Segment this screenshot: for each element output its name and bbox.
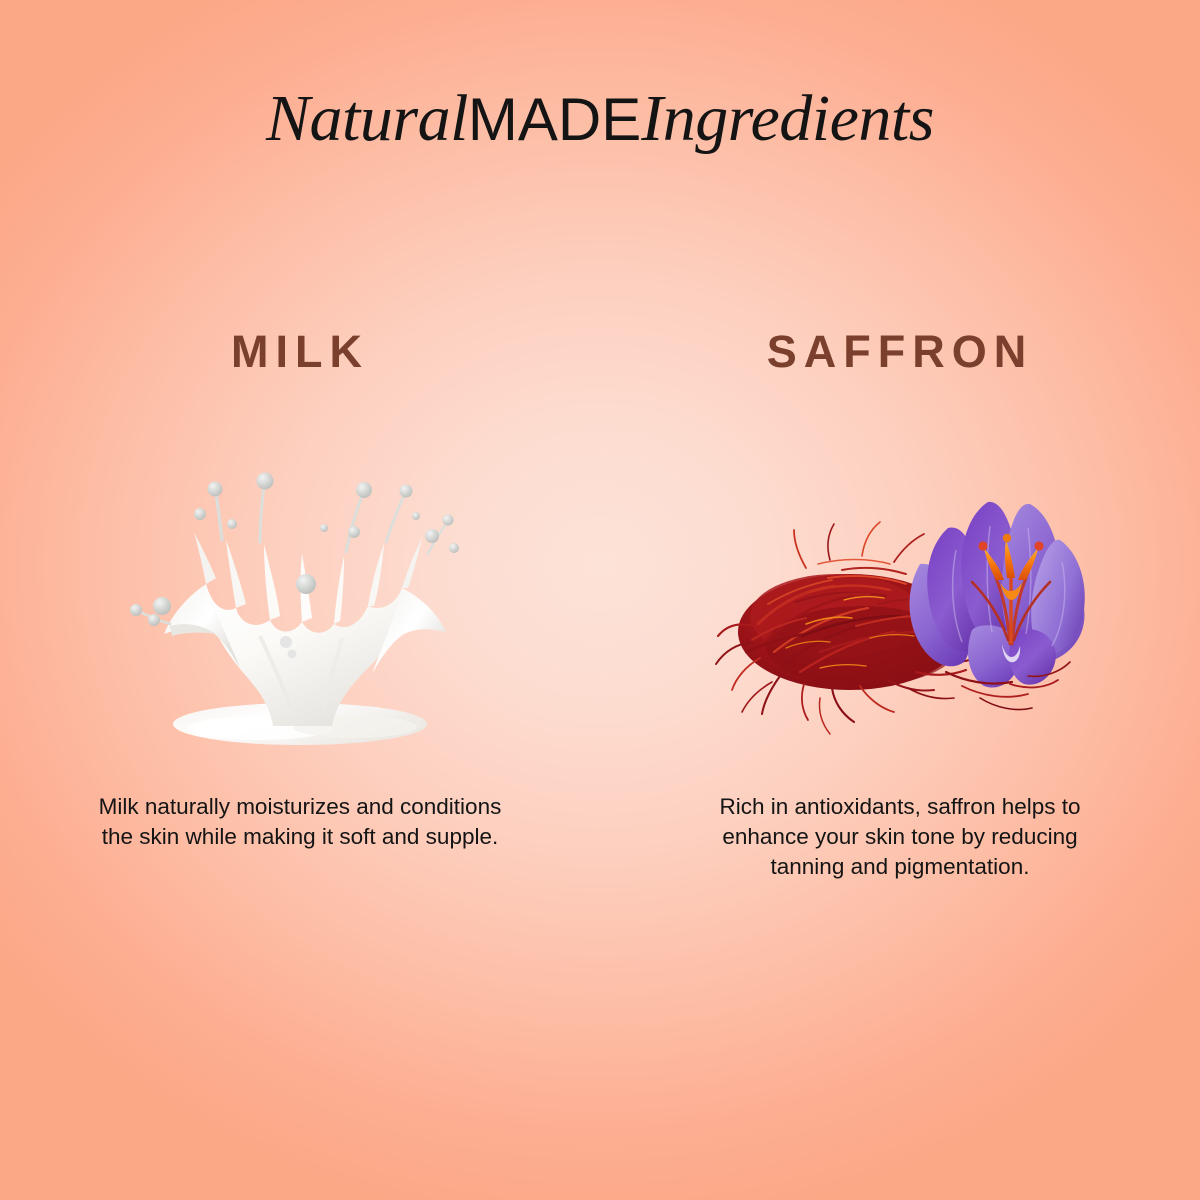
page-title: NaturalMADEIngredients	[0, 86, 1200, 152]
ingredient-heading-milk: MILK	[231, 320, 369, 384]
ingredient-description-milk: Milk naturally moisturizes and condition…	[85, 792, 515, 852]
title-part-ingredients: Ingredients	[641, 82, 934, 155]
ingredient-description-saffron: Rich in antioxidants, saffron helps to e…	[685, 792, 1115, 882]
saffron-illustration	[710, 436, 1090, 766]
ingredient-columns: MILK	[0, 320, 1200, 882]
title-part-natural: Natural	[266, 82, 468, 155]
ingredient-heading-saffron: SAFFRON	[767, 320, 1034, 384]
milk-splash-icon	[110, 436, 490, 766]
ingredient-card-milk: MILK	[0, 320, 600, 882]
title-part-made: MADE	[468, 86, 641, 153]
milk-splash-illustration	[110, 436, 490, 766]
ingredient-card-saffron: SAFFRON	[600, 320, 1200, 882]
crocus-flower	[910, 502, 1085, 688]
saffron-icon	[710, 436, 1090, 766]
ingredients-poster: NaturalMADEIngredients MILK	[0, 0, 1200, 1200]
